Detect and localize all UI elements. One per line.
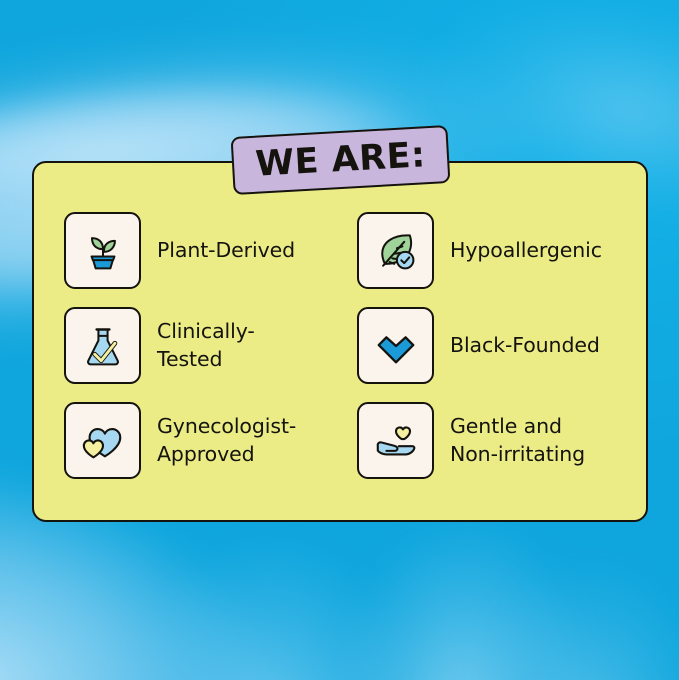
flask-check-icon bbox=[81, 324, 125, 368]
features-card: Plant-Derived bbox=[32, 161, 648, 522]
two-hearts-icon bbox=[80, 418, 126, 464]
feature-label: Black-Founded bbox=[450, 332, 600, 359]
feature-label: Hypoallergenic bbox=[450, 237, 602, 264]
feature-gentle-non-irritating: Gentle and Non-irritating bbox=[357, 393, 646, 488]
feature-clinically-tested: Clinically- Tested bbox=[64, 298, 353, 393]
banner-text: WE ARE: bbox=[255, 138, 427, 182]
poster-canvas: Plant-Derived bbox=[0, 0, 679, 680]
feature-label: Clinically- Tested bbox=[157, 318, 255, 373]
leaf-check-icon bbox=[374, 229, 418, 273]
feature-label: Plant-Derived bbox=[157, 237, 295, 264]
icon-box-gentle-non-irritating bbox=[357, 402, 434, 479]
feature-label: Gynecologist- Approved bbox=[157, 413, 296, 468]
feature-black-founded: Black-Founded bbox=[357, 298, 646, 393]
icon-box-clinically-tested bbox=[64, 307, 141, 384]
feature-hypoallergenic: Hypoallergenic bbox=[357, 203, 646, 298]
feature-label: Gentle and Non-irritating bbox=[450, 413, 585, 468]
we-are-banner: WE ARE: bbox=[231, 125, 451, 195]
icon-box-black-founded bbox=[357, 307, 434, 384]
potted-plant-icon bbox=[81, 229, 125, 273]
icon-box-gynecologist-approved bbox=[64, 402, 141, 479]
feature-gynecologist-approved: Gynecologist- Approved bbox=[64, 393, 353, 488]
icon-box-hypoallergenic bbox=[357, 212, 434, 289]
feature-plant-derived: Plant-Derived bbox=[64, 203, 353, 298]
heart-icon bbox=[373, 323, 419, 369]
icon-box-plant-derived bbox=[64, 212, 141, 289]
features-grid: Plant-Derived bbox=[34, 163, 646, 520]
hand-heart-icon bbox=[373, 418, 419, 464]
